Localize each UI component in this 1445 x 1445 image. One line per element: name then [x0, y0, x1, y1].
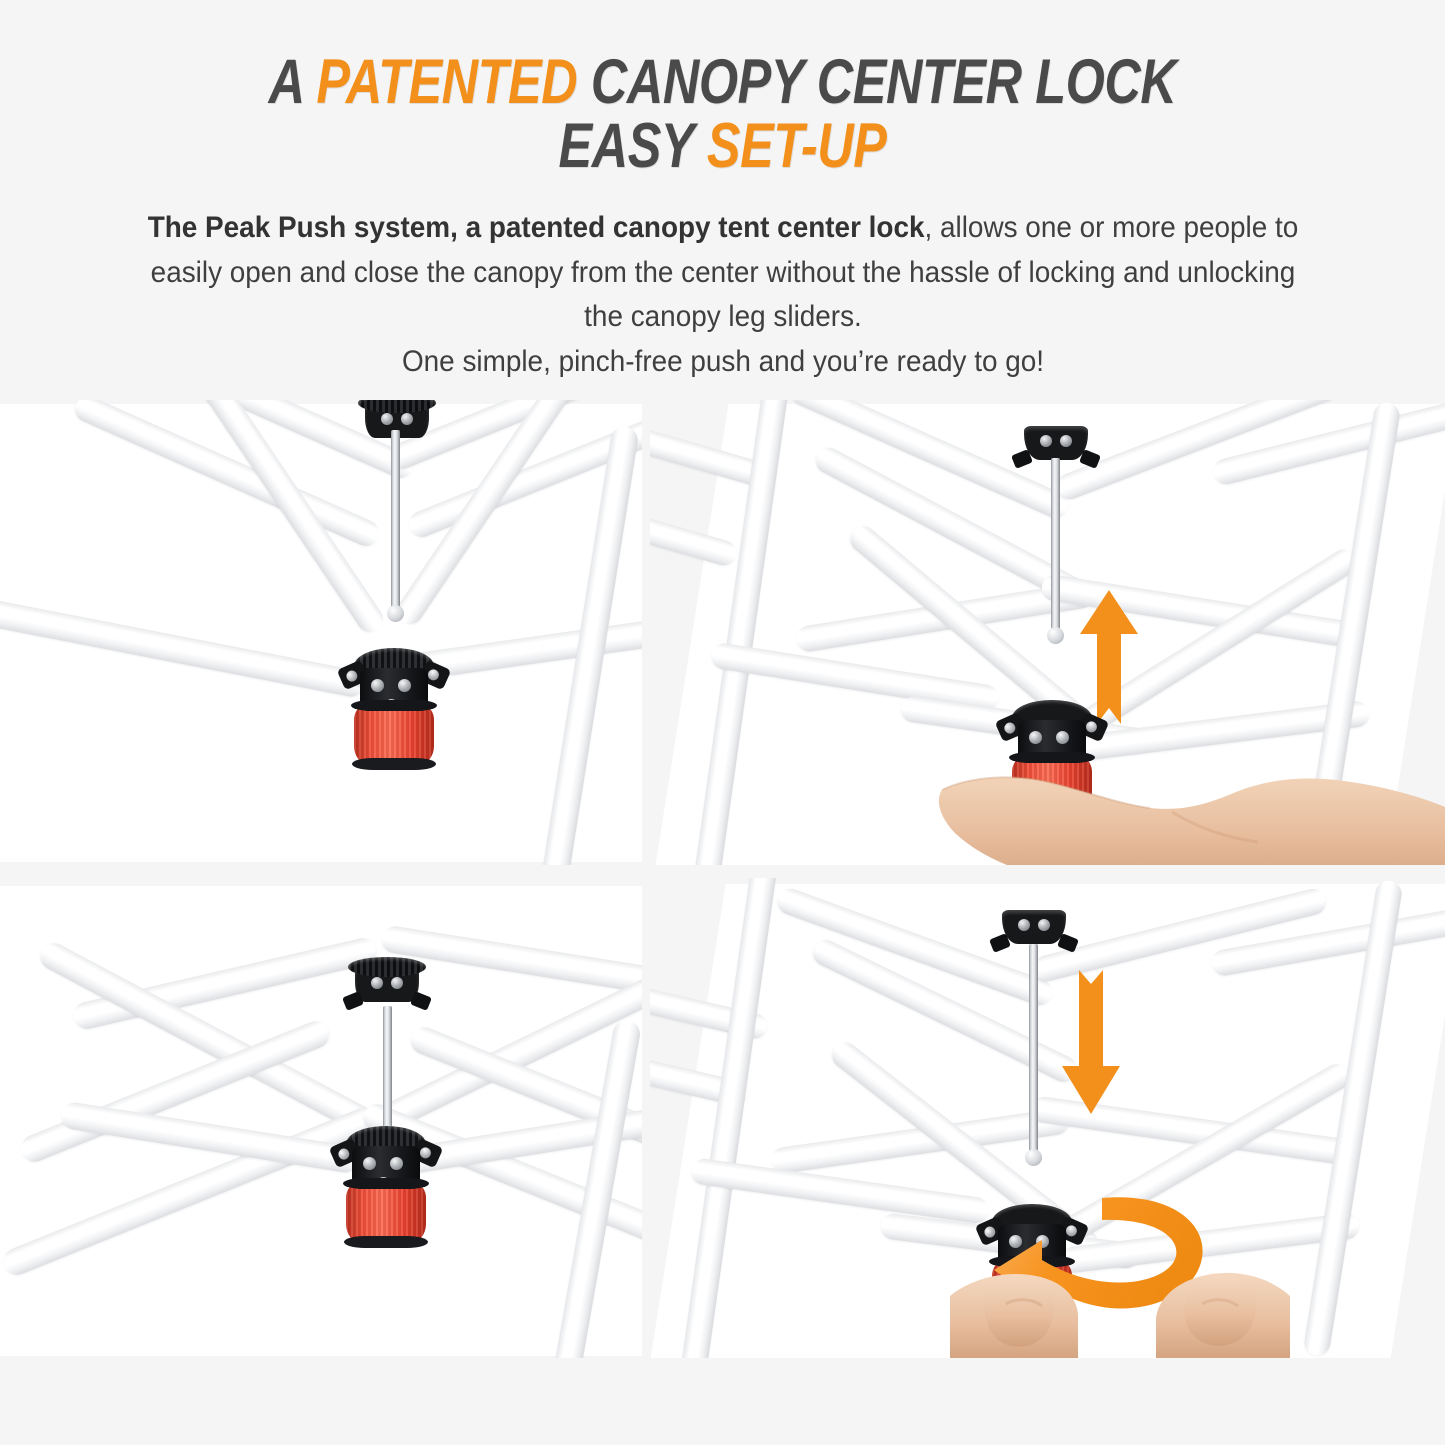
two-hands-gripping: [950, 1252, 1290, 1358]
hub-rivet: [1038, 919, 1050, 931]
hub-wing: [342, 991, 364, 1011]
panel-grid: [0, 400, 1445, 1445]
hub-rivet: [391, 977, 403, 989]
lock-rivet: [398, 679, 411, 692]
panel-top-right-scene: [650, 400, 1445, 865]
body-last-line: One simple, pinch-free push and you’re r…: [401, 345, 1043, 378]
lock-red-collar: [346, 1184, 426, 1242]
lock-rivet: [345, 669, 360, 684]
hub-rivet: [1040, 435, 1052, 447]
panel-bottom-left-scene: [0, 878, 642, 1358]
title-text-a: A: [269, 47, 317, 117]
up-arrow-icon: [1078, 590, 1140, 724]
panel-top-right: [650, 400, 1445, 865]
push-rod: [391, 430, 400, 610]
lock-rivet: [363, 1157, 376, 1170]
body-bold-lead: The Peak Push system, a patented canopy …: [147, 211, 924, 244]
lock-rivet: [1029, 731, 1042, 744]
lock-rivet: [390, 1157, 403, 1170]
panel-bottom-right: [650, 878, 1445, 1358]
title-highlight-setup: SET-UP: [707, 111, 887, 181]
frame-tube: [650, 481, 739, 568]
hub-rivet: [401, 413, 413, 425]
page-title-line-1: A PATENTED CANOPY CENTER LOCK: [145, 48, 1301, 116]
lock-red-collar: [354, 706, 434, 764]
hub-rivet: [1060, 435, 1072, 447]
lock-rivet: [337, 1147, 352, 1162]
title-text-c: EASY: [559, 111, 707, 181]
hub-wing: [989, 933, 1011, 953]
lock-rivet: [1084, 720, 1099, 735]
push-rod: [1051, 458, 1060, 632]
panel-bottom-left: [0, 878, 642, 1358]
lock-rivet: [371, 679, 384, 692]
body-paragraph: The Peak Push system, a patented canopy …: [127, 206, 1317, 384]
title-text-b: CANOPY CENTER LOCK: [577, 47, 1176, 117]
panel-bottom-right-scene: [650, 878, 1445, 1358]
peak-hub: [1024, 426, 1088, 460]
frame-leg-tube: [680, 878, 778, 1358]
push-rod: [1029, 944, 1038, 1154]
header-block: A PATENTED CANOPY CENTER LOCK EASY SET-U…: [0, 0, 1445, 384]
hub-rivet: [381, 413, 393, 425]
open-palm-hand: [936, 752, 1445, 865]
push-rod: [383, 1006, 392, 1130]
peak-hub: [355, 968, 419, 1002]
lock-rivet: [1003, 721, 1018, 736]
lock-rivet: [1056, 731, 1069, 744]
page-title-line-2: EASY SET-UP: [145, 112, 1301, 180]
down-arrow-icon: [1060, 954, 1122, 1114]
frame-tube: [0, 592, 367, 699]
panel-top-left: [0, 400, 642, 865]
hub-wing: [1011, 449, 1033, 469]
panel-top-left-scene: [0, 400, 642, 865]
hub-rivet: [1018, 919, 1030, 931]
hub-rivet: [371, 977, 383, 989]
peak-hub: [1002, 910, 1066, 944]
frame-tube: [690, 1157, 991, 1224]
title-highlight-patented: PATENTED: [316, 47, 577, 117]
lock-rivet: [418, 1146, 433, 1161]
lock-rivet: [426, 668, 441, 683]
hub-wing: [410, 991, 432, 1011]
